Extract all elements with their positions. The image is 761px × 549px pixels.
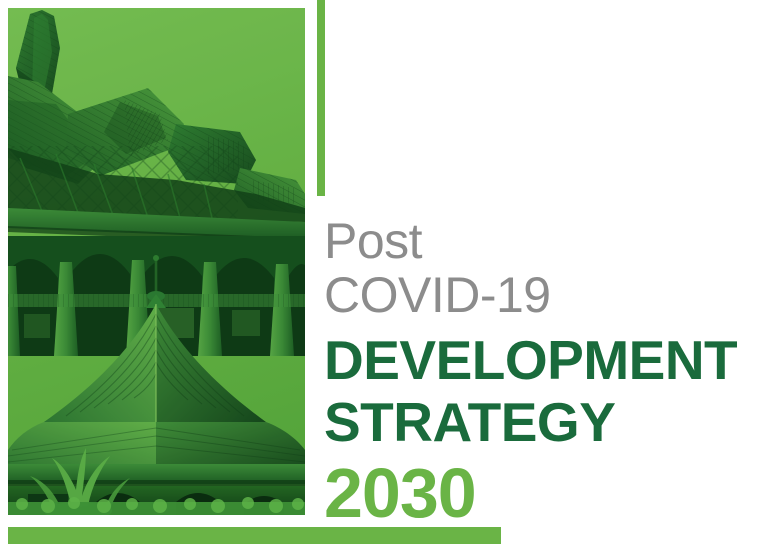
vertical-accent-bar (317, 0, 325, 196)
title-block: Post COVID-19 DEVELOPMENT STRATEGY 2030 (324, 213, 744, 531)
title-line-covid: COVID-19 (324, 267, 744, 323)
building-photograph (8, 8, 305, 515)
poster-cover: Post COVID-19 DEVELOPMENT STRATEGY 2030 (0, 0, 761, 549)
bottom-accent-bar (8, 527, 501, 544)
title-line-post: Post (324, 213, 744, 269)
title-line-strategy: STRATEGY (324, 391, 744, 453)
title-line-year: 2030 (324, 455, 744, 531)
building-photograph-artwork (8, 8, 305, 515)
title-line-development: DEVELOPMENT (324, 329, 744, 391)
